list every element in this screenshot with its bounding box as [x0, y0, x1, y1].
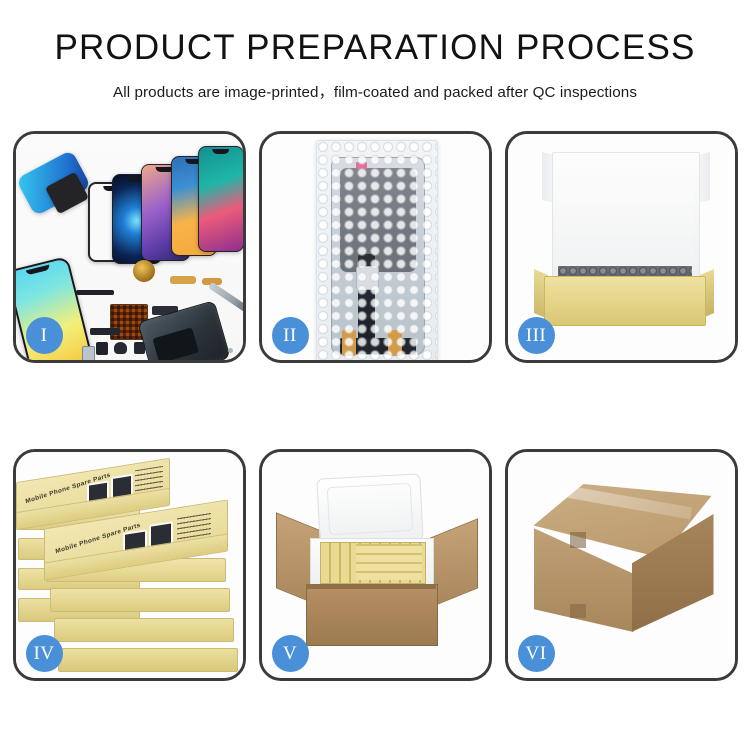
step-badge-1: I — [26, 317, 63, 354]
header: PRODUCT PREPARATION PROCESS All products… — [0, 0, 750, 102]
step-panel-3: III — [505, 131, 738, 363]
carton-front-panel — [306, 584, 438, 646]
phone-teal-screen — [198, 146, 243, 252]
step-badge-4: IV — [26, 635, 63, 672]
page-subtitle: All products are image-printed，film-coat… — [0, 80, 750, 102]
inner-boxes-row-2 — [356, 544, 422, 580]
step-panel-5: V — [259, 449, 492, 681]
foam-sheet — [556, 182, 694, 274]
page-title: PRODUCT PREPARATION PROCESS — [0, 30, 750, 67]
step-panel-1: I — [13, 131, 246, 363]
step-badge-5: V — [272, 635, 309, 672]
kraft-box-tray — [544, 276, 706, 326]
step-panel-2: II — [259, 131, 492, 363]
step-panel-6: VI — [505, 449, 738, 681]
step-badge-6: VI — [518, 635, 555, 672]
step-badge-3: III — [518, 317, 555, 354]
product-preparation-infographic: PRODUCT PREPARATION PROCESS All products… — [0, 0, 750, 750]
steps-grid: I II — [0, 131, 750, 681]
bubble-wrap-bag — [316, 140, 438, 360]
step-panel-4: Mobile Phone Spare Parts Mobile Phone Sp… — [13, 449, 246, 681]
foam-cooler-lid — [316, 473, 423, 546]
step-badge-2: II — [272, 317, 309, 354]
